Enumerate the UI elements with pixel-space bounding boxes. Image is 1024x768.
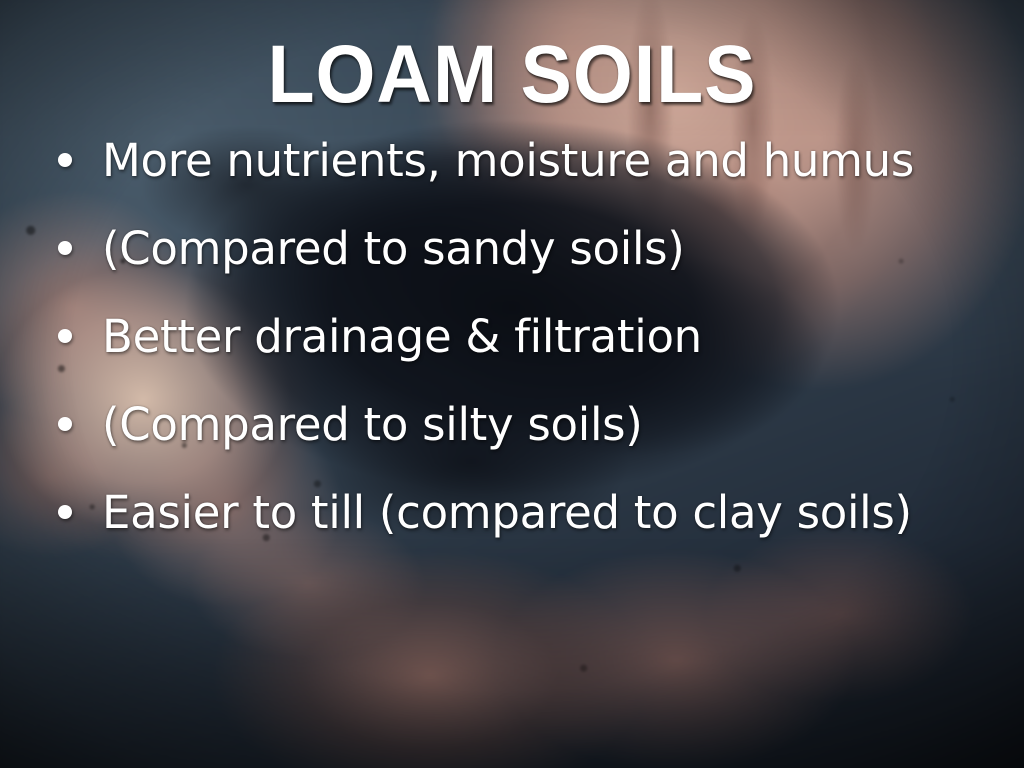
bullet-dot-icon — [58, 505, 72, 519]
slide-content: LOAM SOILS More nutrients, moisture and … — [0, 0, 1024, 768]
bullet-dot-icon — [58, 241, 72, 255]
bullet-dot-icon — [58, 153, 72, 167]
bullet-text: Easier to till (compared to clay soils) — [102, 490, 912, 535]
list-item: Better drainage & filtration — [0, 314, 1024, 402]
list-item: Easier to till (compared to clay soils) — [0, 490, 1024, 578]
presentation-slide: LOAM SOILS More nutrients, moisture and … — [0, 0, 1024, 768]
list-item: (Compared to silty soils) — [0, 402, 1024, 490]
bullet-text: (Compared to silty soils) — [102, 402, 643, 447]
list-item: More nutrients, moisture and humus — [0, 138, 1024, 226]
bullet-text: More nutrients, moisture and humus — [102, 138, 914, 183]
bullet-list: More nutrients, moisture and humus (Comp… — [0, 116, 1024, 578]
bullet-dot-icon — [58, 417, 72, 431]
list-item: (Compared to sandy soils) — [0, 226, 1024, 314]
bullet-text: Better drainage & filtration — [102, 314, 702, 359]
bullet-text: (Compared to sandy soils) — [102, 226, 685, 271]
bullet-dot-icon — [58, 329, 72, 343]
slide-title: LOAM SOILS — [31, 0, 994, 116]
